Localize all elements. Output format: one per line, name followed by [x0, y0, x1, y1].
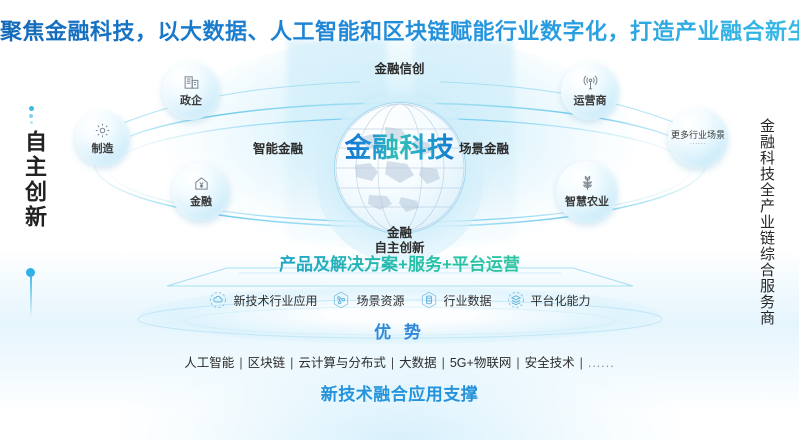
node-label: 制造: [92, 140, 114, 156]
separator: |: [239, 356, 242, 370]
globe-graphic: [335, 103, 465, 233]
separator: |: [442, 356, 445, 370]
node-label: 更多行业场景: [671, 131, 725, 141]
center-left-label: 智能金融: [253, 138, 303, 157]
support-title: 新技术融合应用支撑: [0, 380, 799, 405]
antenna-tower-icon: [582, 74, 599, 91]
node-label: 运营商: [574, 92, 607, 108]
database-icon: [419, 290, 439, 310]
page-title: 聚焦金融科技，以大数据、人工智能和区块链赋能行业数字化，打造产业融合新生态: [0, 14, 799, 46]
capability-item-platform-capability[interactable]: 平台化能力: [506, 290, 591, 310]
wheat-icon: [579, 175, 596, 192]
product-line-text: 产品及解决方案+服务+平台运营: [0, 250, 799, 275]
node-smart-agriculture[interactable]: 智慧农业: [556, 161, 618, 223]
left-dots-decoration: [28, 106, 34, 127]
advantage-title: 优 势: [0, 318, 799, 343]
tech-item: 安全技术: [525, 356, 575, 370]
separator: |: [516, 356, 519, 370]
capability-label: 平台化能力: [531, 292, 591, 309]
separator: |: [290, 356, 293, 370]
node-manufacturing[interactable]: 制造: [75, 111, 130, 166]
capability-item-scenario-resources[interactable]: 场景资源: [331, 290, 404, 310]
tech-item: 区块链: [248, 356, 286, 370]
capability-label: 行业数据: [444, 292, 492, 309]
separator: |: [391, 356, 394, 370]
gear-icon: [94, 122, 111, 139]
center-right-label: 场景金融: [459, 138, 509, 157]
center-top-label: 金融信创: [374, 58, 424, 77]
node-government-enterprise[interactable]: 政企: [162, 62, 220, 120]
left-vertical-text: 自主创新: [18, 130, 50, 230]
capability-label: 场景资源: [356, 292, 404, 309]
building-icon: [183, 74, 200, 91]
capability-row: 新技术行业应用 场景资源 行业数据: [0, 290, 799, 310]
tech-item: 云计算与分布式: [298, 356, 386, 370]
tech-item: 人工智能: [184, 356, 234, 370]
core-label: 金融科技: [345, 126, 455, 165]
technology-row: 人工智能|区块链|云计算与分布式|大数据|5G+物联网|安全技术|......: [0, 352, 799, 371]
node-finance[interactable]: 金融: [172, 163, 230, 221]
node-label: 政企: [180, 92, 202, 108]
separator: |: [580, 356, 583, 370]
infographic-canvas: 聚焦金融科技，以大数据、人工智能和区块链赋能行业数字化，打造产业融合新生态: [0, 0, 799, 413]
bank-yen-icon: [193, 175, 210, 192]
node-telecom-operator[interactable]: 运营商: [561, 62, 619, 120]
node-ellipsis: ......: [690, 140, 706, 146]
capability-item-new-tech[interactable]: 新技术行业应用: [208, 290, 317, 310]
node-label: 金融: [190, 193, 212, 209]
tech-item: 5G+物联网: [450, 356, 511, 370]
cloud-icon: [208, 290, 228, 310]
layers-stack-icon: [506, 290, 526, 310]
capability-label: 新技术行业应用: [233, 292, 317, 309]
node-more-industry-scenarios[interactable]: 更多行业场景 ......: [668, 108, 728, 168]
capability-item-industry-data[interactable]: 行业数据: [419, 290, 492, 310]
node-label: 智慧农业: [565, 193, 609, 209]
network-nodes-icon: [331, 290, 351, 310]
tech-ellipsis: ......: [588, 356, 615, 370]
tech-item: 大数据: [399, 356, 437, 370]
